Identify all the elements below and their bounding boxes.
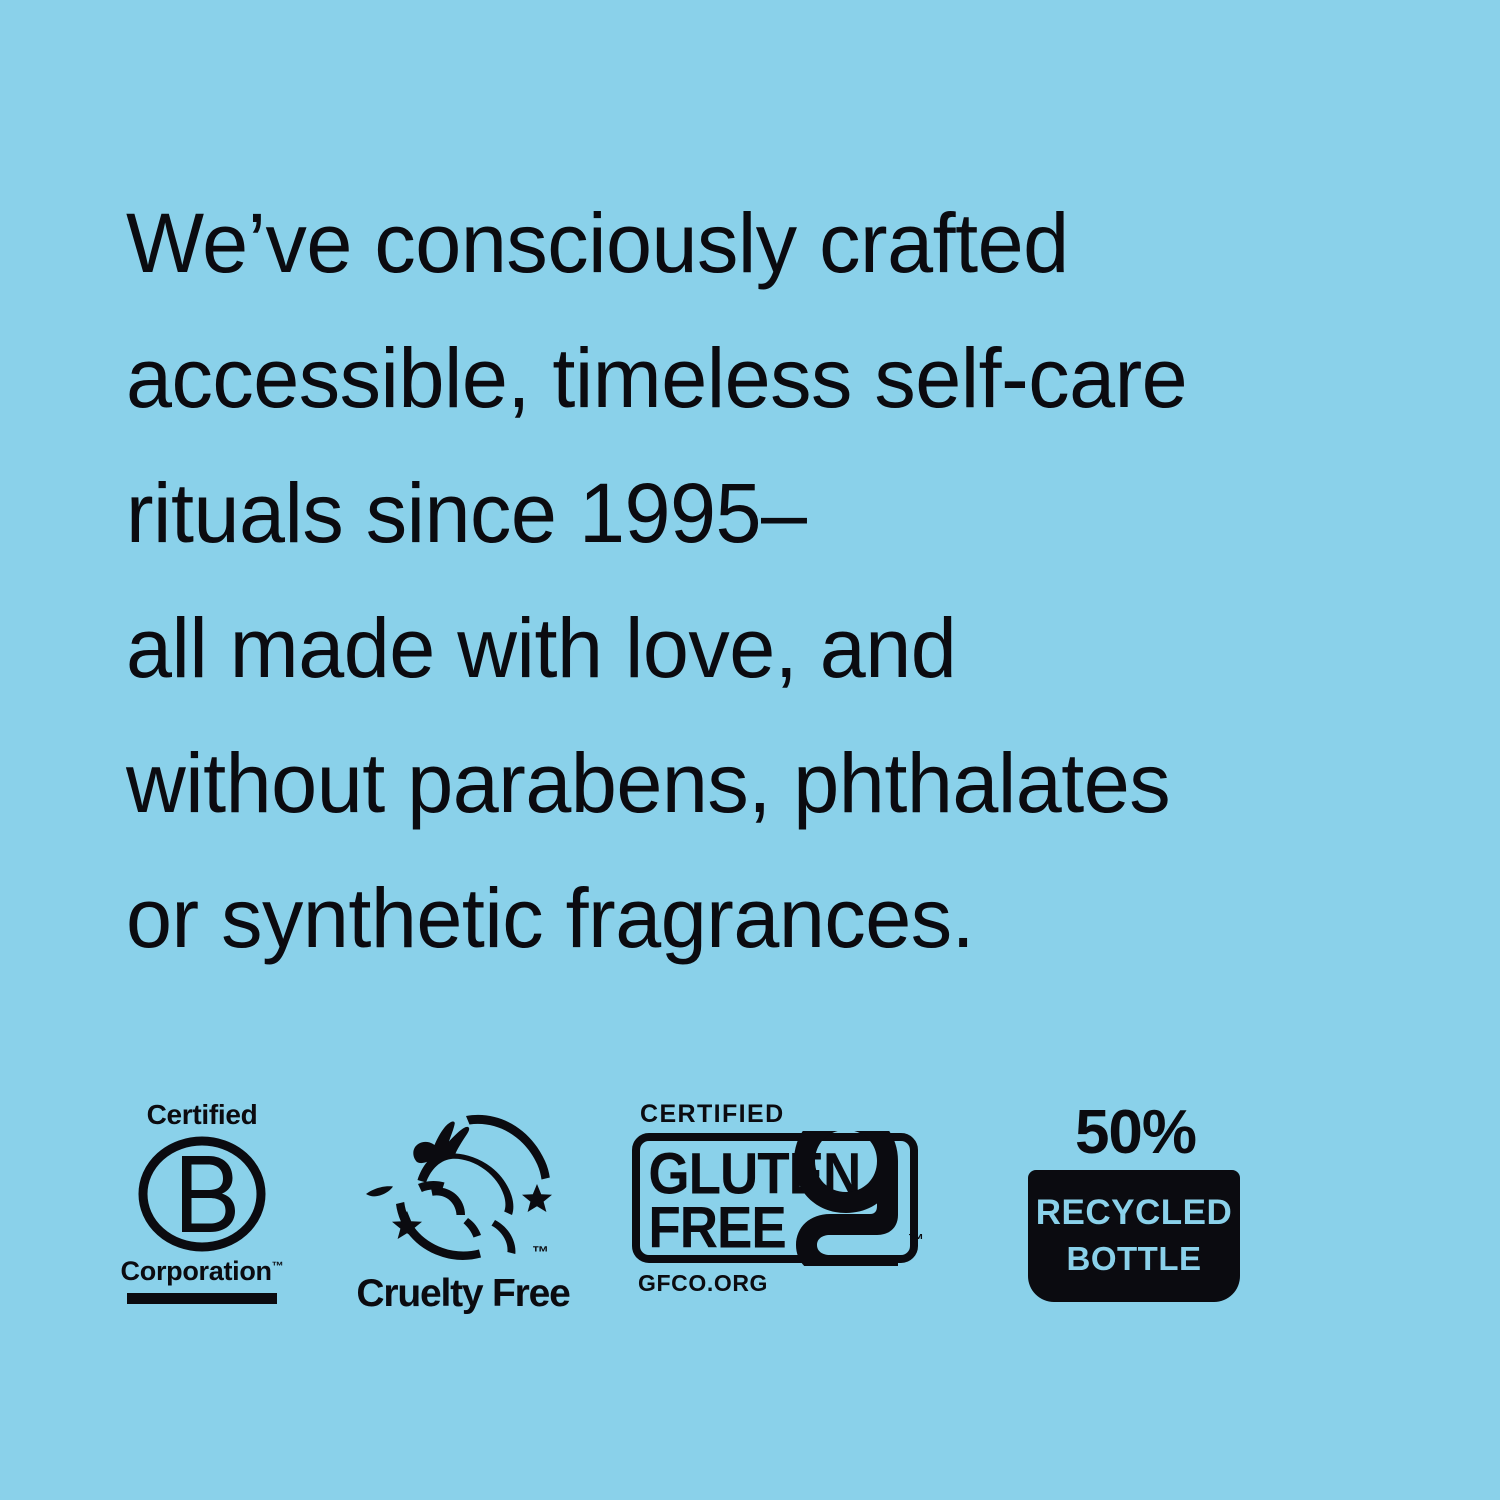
bcorp-trademark: ™ <box>272 1259 284 1273</box>
badge-certified-gluten-free: CERTIFIED GLUTEN FREE ™ <box>630 1100 945 1315</box>
headline-copy: We’ve consciously crafted accessible, ti… <box>126 176 1416 986</box>
headline-line-4: all made with love, and <box>126 581 1397 716</box>
headline-line-2: accessible, timeless self-care <box>126 311 1397 446</box>
bcorp-mark-icon <box>118 1135 286 1253</box>
recycled-percent-label: 50% <box>1028 1100 1243 1166</box>
recycled-line-1: RECYCLED <box>1036 1190 1233 1236</box>
svg-text:FREE: FREE <box>648 1195 785 1260</box>
cruelty-free-label: Cruelty Free <box>348 1272 578 1316</box>
gluten-free-mark-icon: GLUTEN FREE ™ <box>630 1131 930 1266</box>
svg-text:™: ™ <box>908 1232 924 1249</box>
recycled-line-2: BOTTLE <box>1067 1236 1202 1282</box>
svg-text:™: ™ <box>532 1243 549 1262</box>
gluten-free-url-label: GFCO.ORG <box>638 1270 945 1297</box>
leaping-bunny-icon: ™ <box>348 1100 578 1270</box>
badge-cruelty-free: ™ Cruelty Free <box>348 1100 578 1315</box>
headline-line-5: without parabens, phthalates <box>126 716 1397 851</box>
recycled-bottle-plate: RECYCLED BOTTLE <box>1028 1170 1240 1302</box>
certification-badge-row: Certified Corporation™ <box>0 1100 1500 1330</box>
headline-line-1: We’ve consciously crafted <box>126 176 1397 311</box>
bcorp-bottom-label: Corporation™ <box>118 1256 286 1287</box>
badge-certified-b-corporation: Certified Corporation™ <box>118 1100 286 1315</box>
bcorp-top-label: Certified <box>118 1100 286 1130</box>
headline-line-6: or synthetic fragrances. <box>126 851 1397 986</box>
gluten-free-certified-label: CERTIFIED <box>640 1100 945 1129</box>
bcorp-bottom-text: Corporation <box>121 1256 272 1286</box>
headline-line-3: rituals since 1995– <box>126 446 1397 581</box>
badge-recycled-bottle: 50% RECYCLED BOTTLE <box>1028 1100 1243 1315</box>
promo-canvas: We’ve consciously crafted accessible, ti… <box>0 0 1500 1500</box>
bcorp-underline-rule <box>127 1293 277 1304</box>
